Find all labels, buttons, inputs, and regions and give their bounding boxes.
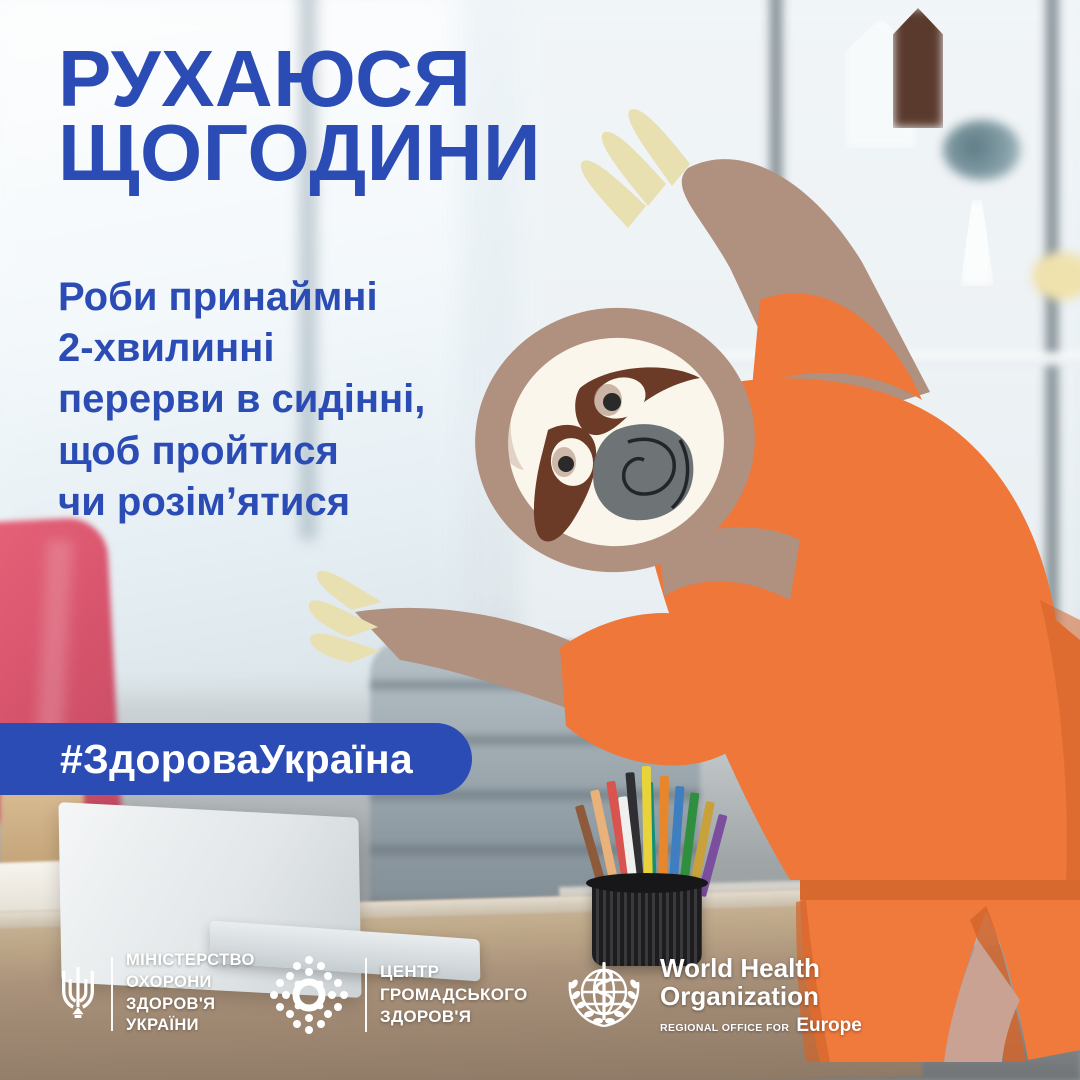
page-title: РУХАЮСЯ ЩОГОДИНИ bbox=[58, 42, 541, 189]
radial-dot-circle-icon bbox=[266, 952, 352, 1038]
sloth-pupil-upper bbox=[603, 393, 621, 411]
campaign-poster: РУХАЮСЯ ЩОГОДИНИ Роби принаймні 2-хвилин… bbox=[0, 0, 1080, 1080]
logo-divider bbox=[111, 957, 113, 1031]
public-health-center-logo: Центр громадського здоров'я bbox=[266, 952, 528, 1038]
hashtag-label: #ЗдороваУкраїна bbox=[0, 736, 413, 783]
hashtag-banner: #ЗдороваУкраїна bbox=[0, 723, 472, 795]
sloth-shorts-waist bbox=[800, 880, 1080, 900]
ministry-logo: Міністерство охорони здоров'я України bbox=[58, 950, 255, 1037]
sloth-sleeve-lower bbox=[560, 613, 758, 766]
who-logo: World Health Organization REGIONAL OFFIC… bbox=[560, 952, 862, 1040]
ukraine-trident-icon bbox=[58, 963, 98, 1025]
who-region: Europe bbox=[796, 1015, 861, 1037]
who-emblem-icon bbox=[560, 952, 648, 1040]
who-region-prefix: REGIONAL OFFICE FOR bbox=[660, 1022, 789, 1034]
body-text: Роби принаймні 2-хвилинні перерви в сиді… bbox=[58, 272, 425, 528]
logo-bar: Міністерство охорони здоров'я України bbox=[0, 946, 1080, 1056]
public-health-center-label: Центр громадського здоров'я bbox=[380, 961, 528, 1029]
sloth-pupil-lower bbox=[558, 456, 574, 472]
ministry-label: Міністерство охорони здоров'я України bbox=[126, 950, 255, 1037]
logo-divider bbox=[365, 958, 367, 1032]
sloth-claw-l3 bbox=[310, 634, 380, 663]
who-name: World Health Organization bbox=[660, 955, 820, 1010]
